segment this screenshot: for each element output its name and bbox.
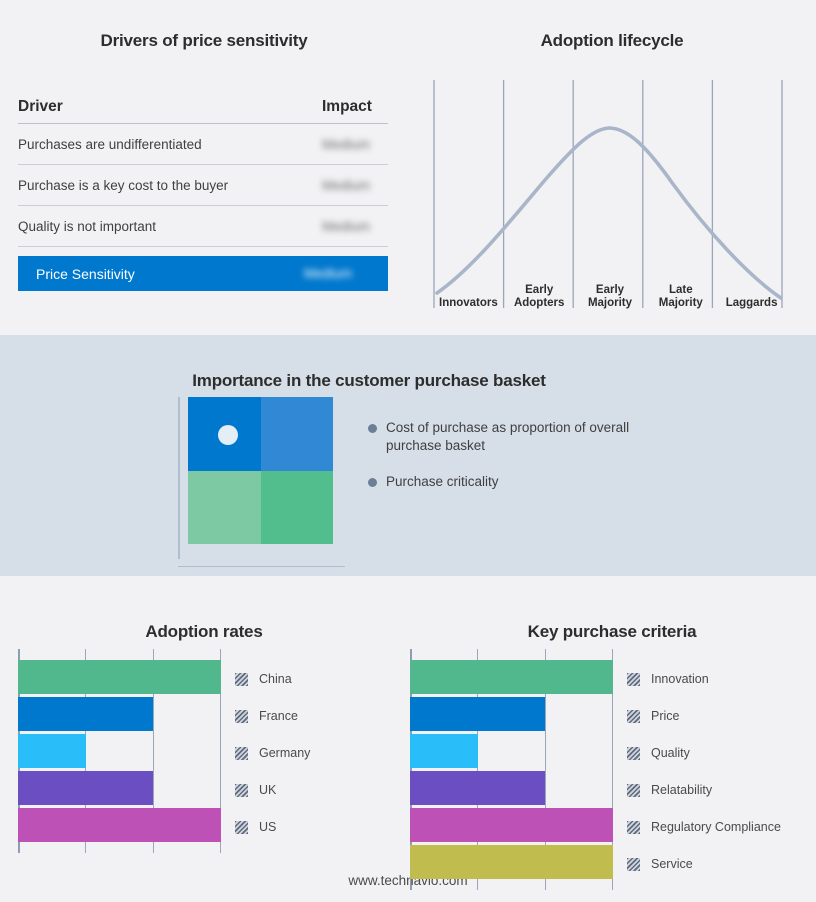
lifecycle-segment-innovators: Innovators xyxy=(433,272,504,312)
bar-innovation xyxy=(410,660,613,694)
legend-item: Price xyxy=(627,699,781,733)
hatch-swatch-icon xyxy=(627,858,640,871)
drivers-table: Driver Impact Purchases are undifferenti… xyxy=(18,90,388,291)
legend-item: Relatability xyxy=(627,773,781,807)
basket-panel-title: Importance in the customer purchase bask… xyxy=(0,371,738,391)
bar-china xyxy=(18,660,221,694)
bar-row-us xyxy=(18,808,221,842)
legend-item: Germany xyxy=(235,736,310,770)
hatch-swatch-icon xyxy=(627,673,640,686)
key-purchase-criteria-panel: Key purchase criteria xyxy=(408,576,816,902)
bar-row-france xyxy=(18,697,221,731)
driver-label: Quality is not important xyxy=(18,219,156,234)
hatch-swatch-icon xyxy=(627,747,640,760)
legend-label: Purchase criticality xyxy=(386,473,499,491)
driver-label: Purchases are undifferentiated xyxy=(18,137,202,152)
bullet-dot-icon xyxy=(368,478,377,487)
legend-item: UK xyxy=(235,773,310,807)
legend-label: Relatability xyxy=(651,783,712,797)
hatch-swatch-icon xyxy=(235,821,248,834)
bar-regulatory-compliance xyxy=(410,808,613,842)
legend-item: Quality xyxy=(627,736,781,770)
adoption-rates-panel: Adoption rates xyxy=(0,576,408,902)
legend-label: France xyxy=(259,709,298,723)
adoption-legend: China France Germany UK US xyxy=(221,649,310,853)
adoption-rates-title: Adoption rates xyxy=(0,622,408,642)
legend-item: Cost of purchase as proportion of overal… xyxy=(368,419,708,455)
column-header-impact: Impact xyxy=(322,98,388,116)
matrix-x-axis xyxy=(178,566,345,568)
matrix-cell-top-left xyxy=(188,397,261,471)
position-marker-dot xyxy=(218,425,238,445)
bar-row-germany xyxy=(18,734,221,768)
bar-uk xyxy=(18,771,153,805)
matrix-grid xyxy=(188,397,333,544)
bar-row-relatability xyxy=(410,771,613,805)
adoption-lifecycle-panel: Adoption lifecycle Innovators EarlyAdop xyxy=(408,0,816,335)
hatch-swatch-icon xyxy=(235,710,248,723)
lifecycle-segment-early-adopters: EarlyAdopters xyxy=(504,272,575,312)
bar-row-price xyxy=(410,697,613,731)
watermark-url: www.technavio.com xyxy=(0,873,816,888)
hatch-swatch-icon xyxy=(627,821,640,834)
matrix-cell-bottom-right xyxy=(261,471,334,545)
table-row: Quality is not important Medium xyxy=(18,206,388,247)
bar-relatability xyxy=(410,771,545,805)
lifecycle-panel-title: Adoption lifecycle xyxy=(408,31,816,51)
legend-item: Regulatory Compliance xyxy=(627,810,781,844)
bar-service xyxy=(410,845,613,879)
infographic-page: Drivers of price sensitivity Driver Impa… xyxy=(0,0,816,902)
table-row: Purchase is a key cost to the buyer Medi… xyxy=(18,165,388,206)
criteria-chart: Innovation Price Quality Relatability Re… xyxy=(410,649,781,890)
bar-germany xyxy=(18,734,86,768)
legend-label: China xyxy=(259,672,292,686)
legend-label: Service xyxy=(651,857,693,871)
lifecycle-segment-late-majority: LateMajority xyxy=(645,272,716,312)
bar-row-regulatory-compliance xyxy=(410,808,613,842)
hatch-swatch-icon xyxy=(627,710,640,723)
bullet-dot-icon xyxy=(368,424,377,433)
adoption-rates-chart: China France Germany UK US xyxy=(18,649,310,853)
bar-row-china xyxy=(18,660,221,694)
lifecycle-segment-laggards: Laggards xyxy=(716,272,787,312)
legend-item: US xyxy=(235,810,310,844)
bar-row-innovation xyxy=(410,660,613,694)
bar-quality xyxy=(410,734,478,768)
driver-label: Purchase is a key cost to the buyer xyxy=(18,178,228,193)
legend-label: Germany xyxy=(259,746,310,760)
legend-item: France xyxy=(235,699,310,733)
price-sensitivity-summary-row: Price Sensitivity Medium xyxy=(18,256,388,291)
impact-value: Medium xyxy=(304,266,370,281)
legend-label: Regulatory Compliance xyxy=(651,820,781,834)
bar-row-uk xyxy=(18,771,221,805)
matrix-cell-top-right xyxy=(261,397,334,471)
legend-label: Price xyxy=(651,709,679,723)
matrix-cell-bottom-left xyxy=(188,471,261,545)
hatch-swatch-icon xyxy=(235,747,248,760)
matrix-y-axis xyxy=(178,397,180,559)
purchase-basket-panel: Importance in the customer purchase bask… xyxy=(0,335,816,576)
legend-item: Purchase criticality xyxy=(368,473,708,491)
bar-france xyxy=(18,697,153,731)
legend-label: Cost of purchase as proportion of overal… xyxy=(386,419,651,455)
criteria-legend: Innovation Price Quality Relatability Re… xyxy=(613,649,781,890)
basket-legend: Cost of purchase as proportion of overal… xyxy=(368,419,708,509)
criteria-bars xyxy=(410,649,613,890)
adoption-plot-area xyxy=(18,649,221,853)
hatch-swatch-icon xyxy=(235,784,248,797)
drivers-panel-title: Drivers of price sensitivity xyxy=(0,31,408,51)
impact-value: Medium xyxy=(322,219,388,234)
column-header-driver: Driver xyxy=(18,98,63,116)
lifecycle-segment-labels: Innovators EarlyAdopters EarlyMajority L… xyxy=(433,272,787,312)
adoption-bars xyxy=(18,649,221,853)
bar-us xyxy=(18,808,221,842)
hatch-swatch-icon xyxy=(235,673,248,686)
table-header-row: Driver Impact xyxy=(18,90,388,124)
legend-label: Quality xyxy=(651,746,690,760)
hatch-swatch-icon xyxy=(627,784,640,797)
criteria-plot-area xyxy=(410,649,613,890)
legend-item: China xyxy=(235,662,310,696)
driver-label: Price Sensitivity xyxy=(36,266,135,282)
bar-row-quality xyxy=(410,734,613,768)
purchase-basket-matrix xyxy=(178,397,348,567)
lifecycle-segment-early-majority: EarlyMajority xyxy=(575,272,646,312)
table-row: Purchases are undifferentiated Medium xyxy=(18,124,388,165)
criteria-title: Key purchase criteria xyxy=(408,622,816,642)
legend-item: Innovation xyxy=(627,662,781,696)
legend-label: Innovation xyxy=(651,672,709,686)
impact-value: Medium xyxy=(322,178,388,193)
bar-price xyxy=(410,697,545,731)
impact-value: Medium xyxy=(322,137,388,152)
bar-row-service xyxy=(410,845,613,879)
legend-label: US xyxy=(259,820,276,834)
legend-label: UK xyxy=(259,783,276,797)
drivers-panel: Drivers of price sensitivity Driver Impa… xyxy=(0,0,408,335)
